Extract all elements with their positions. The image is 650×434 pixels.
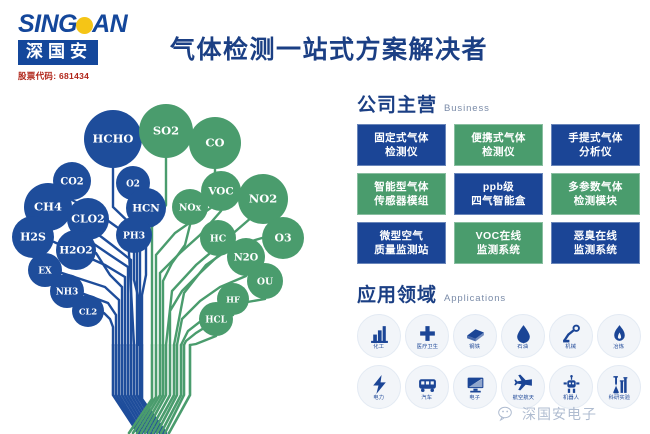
application-label: 电子 — [470, 395, 481, 400]
application-item[interactable]: 医疗卫生 — [405, 314, 449, 358]
gas-node-label: HCHO — [93, 131, 134, 145]
application-item[interactable]: 电子 — [453, 365, 497, 409]
business-product-line2: 检测仪 — [385, 145, 418, 159]
logo-chinese-name: 深国安 — [18, 40, 98, 65]
bus-icon — [417, 374, 438, 395]
robot-arm-icon — [561, 323, 582, 344]
application-item[interactable]: 冶炼 — [597, 314, 641, 358]
poster-canvas: SINGAN 深国安 股票代码: 681434 气体检测一站式方案解决者 — [0, 0, 650, 434]
application-item[interactable]: 机器人 — [549, 365, 593, 409]
tree-gas-nodes: HCHOCO2O2CH4CLO2HCNH2SPH3H2O2EXNH3CL2SO2… — [12, 104, 304, 336]
business-product-line1: 多参数气体 — [568, 180, 623, 194]
application-item[interactable]: 化工 — [357, 314, 401, 358]
lab-flask-icon — [609, 374, 630, 395]
business-product-card[interactable]: 微型空气质量监测站 — [357, 222, 446, 264]
gas-node-cl2: CL2 — [72, 295, 104, 327]
business-product-card[interactable]: 固定式气体检测仪 — [357, 124, 446, 166]
factory-icon — [369, 323, 390, 344]
applications-icon-grid: 化工医疗卫生钢铁石油机械冶炼电力汽车电子航空航天机器人科研实验 — [357, 314, 640, 409]
application-label: 电力 — [374, 395, 385, 400]
application-label: 化工 — [374, 344, 385, 349]
business-product-line2: 检测模块 — [574, 194, 618, 208]
tree-trunk — [113, 345, 190, 433]
business-product-card[interactable]: 智能型气体传感器模组 — [357, 173, 446, 215]
lightning-bolt-icon — [369, 374, 390, 395]
application-item[interactable]: 科研实验 — [597, 365, 641, 409]
logo-wordmark-post: AN — [92, 10, 127, 38]
gas-node-label: HCN — [132, 202, 160, 214]
logo-o-circle-icon — [76, 17, 93, 34]
gas-node-h2o2: H2O2 — [56, 230, 96, 270]
gas-node-h2s: H2S — [12, 216, 54, 258]
gas-node-label: CO2 — [60, 176, 83, 187]
steel-beam-icon — [465, 323, 486, 344]
business-product-line1: 手提式气体 — [568, 131, 623, 145]
gas-node-label: H2O2 — [59, 244, 92, 256]
business-product-card[interactable]: 恶臭在线监测系统 — [551, 222, 640, 264]
application-item[interactable]: 航空航天 — [501, 365, 545, 409]
wechat-icon — [498, 406, 518, 422]
stock-code: 股票代码: 681434 — [18, 70, 168, 82]
application-item[interactable]: 机械 — [549, 314, 593, 358]
business-product-line2: 监测系统 — [477, 243, 521, 257]
gas-node-label: N2O — [234, 252, 259, 263]
business-product-card[interactable]: 便携式气体检测仪 — [454, 124, 543, 166]
gas-node-label: NH3 — [56, 287, 79, 297]
application-item[interactable]: 石油 — [501, 314, 545, 358]
business-product-line2: 四气智能盒 — [471, 194, 526, 208]
business-product-line2: 分析仪 — [579, 145, 612, 159]
medical-cross-icon — [417, 323, 438, 344]
business-product-line1: 智能型气体 — [374, 180, 429, 194]
applications-title-en: Applications — [444, 293, 506, 304]
business-title-en: Business — [444, 103, 490, 114]
business-product-line1: 固定式气体 — [374, 131, 429, 145]
application-item[interactable]: 汽车 — [405, 365, 449, 409]
watermark-text: 深国安电子 — [522, 404, 597, 424]
watermark: 深国安电子 — [498, 404, 597, 424]
business-product-card[interactable]: VOC在线监测系统 — [454, 222, 543, 264]
application-item[interactable]: 电力 — [357, 365, 401, 409]
robot-icon — [561, 374, 582, 395]
logo-wordmark-pre: SING — [18, 10, 77, 38]
gas-node-nox: NOx — [172, 189, 208, 225]
application-label: 机器人 — [563, 395, 579, 400]
application-label: 钢铁 — [470, 344, 481, 349]
gas-node-label: PH3 — [123, 230, 145, 241]
gas-node-o3: O3 — [262, 217, 304, 259]
oil-drop-icon — [513, 323, 534, 344]
gas-node-ou: OU — [247, 263, 283, 299]
tree-svg: HCHOCO2O2CH4CLO2HCNH2SPH3H2O2EXNH3CL2SO2… — [0, 95, 340, 434]
business-product-line2: 监测系统 — [574, 243, 618, 257]
brand-logo: SINGAN 深国安 股票代码: 681434 — [18, 12, 168, 82]
airplane-icon — [513, 374, 534, 395]
gas-node-so2: SO2 — [139, 104, 193, 158]
gas-node-label: OU — [257, 276, 273, 287]
gas-node-label: CO — [205, 135, 224, 149]
gas-node-label: HF — [226, 294, 240, 304]
gas-node-label: EX — [38, 266, 52, 276]
applications-section-header: 应用领域 Applications — [357, 286, 640, 305]
application-label: 石油 — [518, 344, 529, 349]
page-title: 气体检测一站式方案解决者 — [170, 30, 488, 66]
business-product-card[interactable]: 手提式气体分析仪 — [551, 124, 640, 166]
business-product-line2: 传感器模组 — [374, 194, 429, 208]
application-label: 汽车 — [422, 395, 433, 400]
gas-node-no2: NO2 — [238, 174, 288, 224]
gas-node-label: SO2 — [153, 123, 179, 137]
business-product-line2: 质量监测站 — [374, 243, 429, 257]
gas-node-label: NOx — [179, 202, 202, 213]
gas-node-ph3: PH3 — [116, 217, 152, 253]
gas-sensor-tree-diagram: HCHOCO2O2CH4CLO2HCNH2SPH3H2O2EXNH3CL2SO2… — [0, 95, 340, 434]
business-product-grid: 固定式气体检测仪便携式气体检测仪手提式气体分析仪智能型气体传感器模组ppb级四气… — [357, 124, 640, 264]
business-product-line1: ppb级 — [483, 180, 514, 194]
application-label: 航空航天 — [512, 395, 534, 400]
application-label: 冶炼 — [614, 344, 625, 349]
application-label: 医疗卫生 — [416, 344, 438, 349]
business-product-line1: 恶臭在线 — [574, 229, 618, 243]
application-label: 科研实验 — [608, 395, 630, 400]
flame-icon — [609, 323, 630, 344]
gas-node-label: NO2 — [249, 191, 278, 205]
gas-node-label: VOC — [207, 185, 233, 197]
right-column: 公司主营 Business 固定式气体检测仪便携式气体检测仪手提式气体分析仪智能… — [357, 96, 640, 409]
business-title-cn: 公司主营 — [357, 96, 437, 115]
application-label: 机械 — [566, 344, 577, 349]
gas-node-label: O3 — [274, 231, 291, 244]
gas-node-label: H2S — [20, 230, 46, 243]
business-product-line1: 便携式气体 — [471, 131, 526, 145]
application-item[interactable]: 钢铁 — [453, 314, 497, 358]
logo-wordmark: SINGAN — [18, 12, 168, 37]
gas-node-label: O2 — [126, 179, 140, 189]
gas-node-label: HCL — [205, 315, 227, 325]
gas-node-label: CLO2 — [71, 212, 104, 225]
gas-node-label: HC — [210, 233, 226, 244]
business-product-line1: VOC在线 — [476, 229, 522, 243]
business-product-line1: 微型空气 — [380, 229, 424, 243]
gas-node-label: CL2 — [79, 306, 97, 316]
monitor-icon — [465, 374, 486, 395]
business-section-header: 公司主营 Business — [357, 96, 640, 115]
gas-node-hcl: HCL — [199, 302, 233, 336]
gas-node-co: CO — [189, 117, 241, 169]
business-product-line2: 检测仪 — [482, 145, 515, 159]
business-product-card[interactable]: 多参数气体检测模块 — [551, 173, 640, 215]
gas-node-label: CH4 — [34, 199, 62, 213]
applications-title-cn: 应用领域 — [357, 286, 437, 305]
business-product-card[interactable]: ppb级四气智能盒 — [454, 173, 543, 215]
gas-node-hcho: HCHO — [84, 110, 142, 168]
